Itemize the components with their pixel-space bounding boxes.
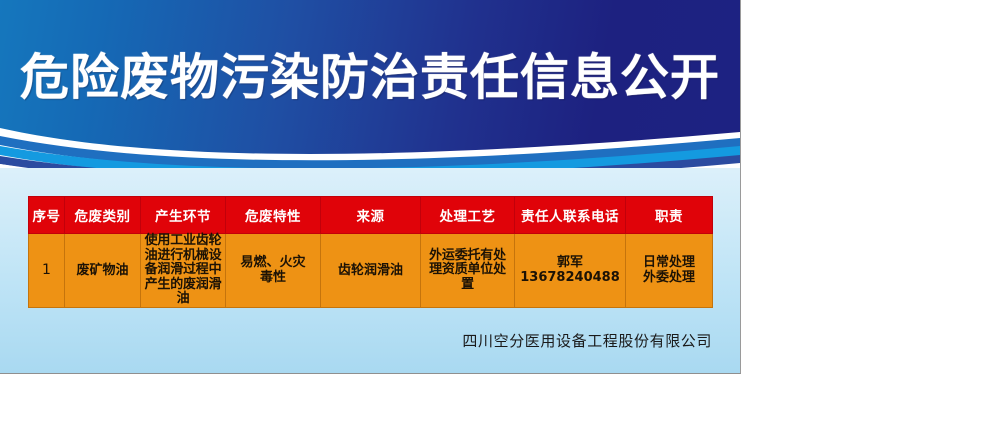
company-name: 四川空分医用设备工程股份有限公司 xyxy=(0,331,712,351)
cell-generation-stage: 使用工业齿轮油进行机械设备润滑过程中产生的废润滑油 xyxy=(141,234,226,308)
column-header-duty: 职责 xyxy=(626,197,713,234)
table-header-row: 序号 危废类别 产生环节 危废特性 来源 处理工艺 责任人联系电话 职责 xyxy=(29,197,713,234)
column-header-hazard-property: 危废特性 xyxy=(226,197,321,234)
column-header-responsible-phone: 责任人联系电话 xyxy=(515,197,626,234)
page-title: 危险废物污染防治责任信息公开 xyxy=(0,48,740,108)
cell-duty: 日常处理 外委处理 xyxy=(626,234,713,308)
column-header-generation-stage: 产生环节 xyxy=(141,197,226,234)
hazard-property-line-2: 毒性 xyxy=(228,270,318,286)
cell-source: 齿轮润滑油 xyxy=(321,234,421,308)
duty-line-1: 日常处理 xyxy=(628,255,710,271)
column-header-category: 危废类别 xyxy=(65,197,141,234)
banner-wave-decoration xyxy=(0,98,740,168)
cell-seq: 1 xyxy=(29,234,65,308)
cell-responsible-contact: 郭军 13678240488 xyxy=(515,234,626,308)
responsible-person-name: 郭军 xyxy=(517,255,623,271)
table-row: 1 废矿物油 使用工业齿轮油进行机械设备润滑过程中产生的废润滑油 易燃、火灾 毒… xyxy=(29,234,713,308)
duty-line-2: 外委处理 xyxy=(628,270,710,286)
cell-hazard-property: 易燃、火灾 毒性 xyxy=(226,234,321,308)
cell-category: 废矿物油 xyxy=(65,234,141,308)
column-header-source: 来源 xyxy=(321,197,421,234)
responsible-person-phone: 13678240488 xyxy=(517,270,623,286)
column-header-treatment-process: 处理工艺 xyxy=(421,197,515,234)
hazardous-waste-table: 序号 危废类别 产生环节 危废特性 来源 处理工艺 责任人联系电话 职责 1 废… xyxy=(28,196,713,308)
column-header-seq: 序号 xyxy=(29,197,65,234)
information-disclosure-poster: 危险废物污染防治责任信息公开 序号 危废类别 产生环节 危废特性 来源 处理工艺… xyxy=(0,0,741,374)
hazard-property-line-1: 易燃、火灾 xyxy=(228,255,318,271)
poster-banner: 危险废物污染防治责任信息公开 xyxy=(0,0,740,168)
cell-treatment-process: 外运委托有处理资质单位处置 xyxy=(421,234,515,308)
